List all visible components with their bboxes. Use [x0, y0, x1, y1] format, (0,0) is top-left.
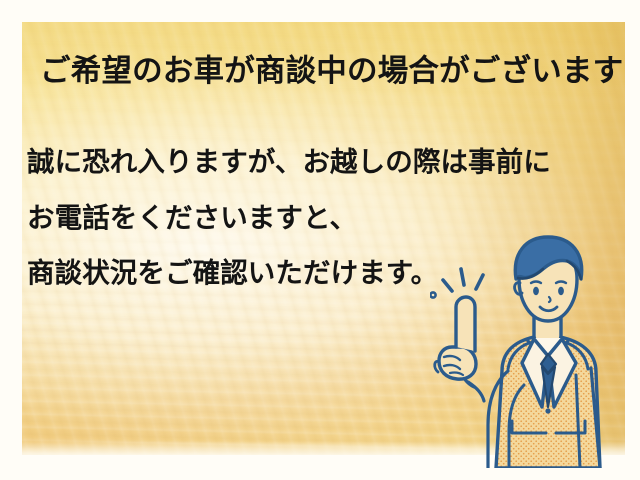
body-text-line-3: 商談状況をご確認いただけます。 [27, 259, 497, 287]
body-text: 誠に恐れ入りますが、お越しの際は事前に お電話をくださいますと、 商談状況をご確… [27, 148, 497, 287]
page-title: ご希望のお車が商談中の場合がございます [40, 46, 600, 90]
body-text-line-2: お電話をくださいますと、 [27, 204, 497, 232]
body-text-line-1: 誠に恐れ入りますが、お越しの際は事前に [27, 148, 497, 176]
panel-bottom-sheen [22, 441, 625, 455]
banner-image: ご希望のお車が商談中の場合がございます 誠に恐れ入りますが、お越しの際は事前に … [0, 0, 640, 480]
